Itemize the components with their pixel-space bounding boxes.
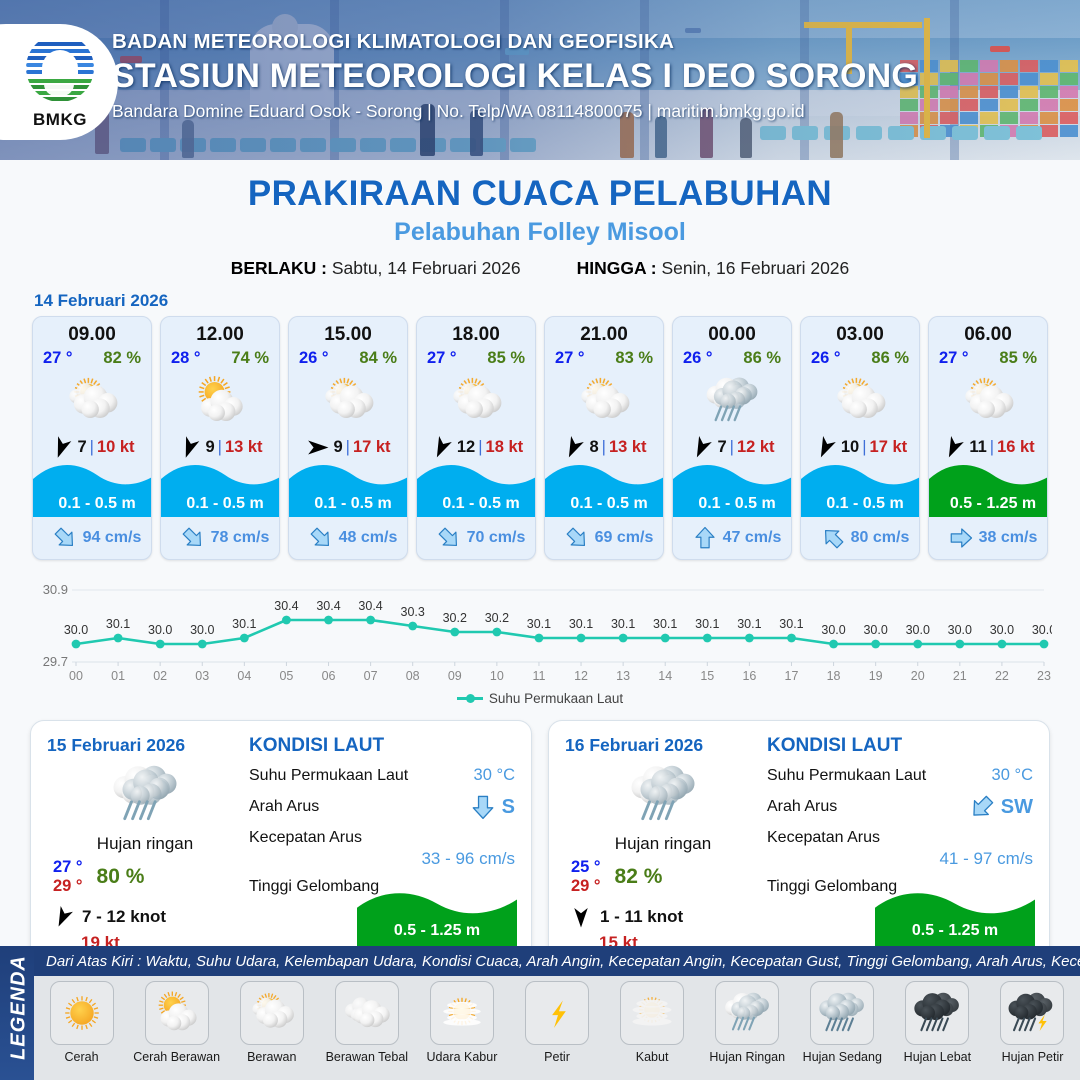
legend-item: Udara Kabur (414, 976, 509, 1080)
card-current-speed: 48 cm/s (339, 529, 398, 547)
chart-point (492, 628, 501, 637)
card-current-speed: 69 cm/s (595, 529, 654, 547)
chart-point (198, 640, 207, 649)
weather-icon-berawan (447, 372, 505, 430)
day-wind-row: 1 - 11 knot (565, 905, 761, 929)
daily-forecast-panel: 16 Februari 2026Hujan ringan25 °29 °82 %… (548, 720, 1050, 964)
legend-item: Petir (509, 976, 604, 1080)
legend-item-tile (145, 981, 209, 1045)
chart-xtick: 02 (153, 669, 167, 683)
current-direction-icon (181, 526, 205, 550)
forecast-card[interactable]: 00.0026 °86 %7|12 kt0.1 - 0.5 m47 cm/s (672, 316, 792, 560)
chart-xtick: 11 (532, 669, 545, 683)
forecast-card[interactable]: 15.0026 °84 %9|17 kt0.1 - 0.5 m48 cm/s (288, 316, 408, 560)
wave-height-value: 0.5 - 1.25 m (357, 922, 517, 940)
chart-xtick: 15 (700, 669, 714, 683)
weather-icon-kabut (627, 988, 677, 1038)
weather-icon-berawan (831, 372, 889, 430)
chart-xtick: 21 (953, 669, 967, 683)
day-humidity: 82 % (615, 865, 663, 889)
chart-point-label: 30.1 (611, 617, 635, 631)
chart-point (408, 622, 417, 631)
station-contact: Bandara Domine Eduard Osok - Sorong | No… (112, 101, 918, 122)
card-weather-icon (929, 370, 1047, 432)
day-temp-min: 27 ° (53, 858, 83, 877)
day-summary: 16 Februari 2026Hujan ringan25 °29 °82 %… (565, 735, 761, 949)
sst-value: 30 °C (474, 766, 515, 785)
bmkg-logo: BMKG (0, 24, 118, 140)
current-direction-icon (309, 526, 333, 550)
legend-item-label: Hujan Sedang (803, 1050, 882, 1064)
legend-item-tile (715, 981, 779, 1045)
card-current-row: 80 cm/s (801, 517, 920, 559)
legend-item-label: Petir (544, 1050, 570, 1064)
sst-label: Suhu Permukaan Laut (767, 767, 926, 785)
legend-item: Berawan Tebal (319, 976, 414, 1080)
wind-direction-icon (177, 435, 202, 460)
day-summary: 15 Februari 2026Hujan ringan27 °29 °80 %… (47, 735, 243, 949)
day-weather-icon (47, 758, 243, 832)
day-wind-row: 7 - 12 knot (47, 905, 243, 929)
header-text-block: BADAN METEOROLOGI KLIMATOLOGI DAN GEOFIS… (112, 30, 918, 122)
chart-point (366, 616, 375, 625)
card-wind-direction-value: 9 (333, 438, 342, 457)
card-time: 15.00 (289, 317, 407, 346)
chart-point (998, 640, 1007, 649)
card-humidity: 86 % (871, 349, 909, 368)
chart-point (871, 640, 880, 649)
card-current-speed: 80 cm/s (851, 529, 910, 547)
card-current-speed: 47 cm/s (723, 529, 782, 547)
card-temp-humidity-row: 28 °74 % (161, 346, 279, 368)
legend-item-label: Kabut (636, 1050, 669, 1064)
chart-point-label: 30.1 (695, 617, 719, 631)
wind-direction-icon (813, 435, 838, 460)
weather-icon-hujan-sedang (817, 988, 867, 1038)
legend-item-label: Hujan Lebat (904, 1050, 971, 1064)
card-temp-humidity-row: 26 °86 % (673, 346, 791, 368)
card-gust-speed: 16 kt (997, 438, 1035, 457)
legend-item: Hujan Sedang (795, 976, 890, 1080)
card-time: 18.00 (417, 317, 535, 346)
forecast-card[interactable]: 09.0027 °82 %7|10 kt0.1 - 0.5 m94 cm/s (32, 316, 152, 560)
weather-icon-berawan (63, 372, 121, 430)
day-temp-range: 27 °29 ° (53, 858, 83, 896)
card-wind-separator: | (218, 438, 222, 457)
agency-name: BADAN METEOROLOGI KLIMATOLOGI DAN GEOFIS… (112, 30, 918, 54)
card-temp-humidity-row: 27 °82 % (33, 346, 151, 368)
legend-item-tile (810, 981, 874, 1045)
day-condition: Hujan ringan (565, 834, 761, 854)
daily-forecast-panels: 15 Februari 2026Hujan ringan27 °29 °80 %… (0, 706, 1080, 964)
legend-item: Hujan Ringan (700, 976, 795, 1080)
weather-icon-hujan-ringan (109, 759, 181, 831)
validity-from: BERLAKU : Sabtu, 14 Februari 2026 (231, 258, 521, 279)
chart-xtick: 01 (111, 669, 125, 683)
legend-item-tile (905, 981, 969, 1045)
chart-point-label: 30.4 (274, 599, 298, 613)
chart-point (1040, 640, 1049, 649)
card-humidity: 85 % (999, 349, 1037, 368)
legend-item-tile (335, 981, 399, 1045)
card-time: 12.00 (161, 317, 279, 346)
chart-ytick-top: 30.9 (43, 582, 68, 597)
card-temperature: 27 ° (427, 349, 457, 368)
current-direction-value: SW (1001, 796, 1033, 819)
forecast-card-list: 09.0027 °82 %7|10 kt0.1 - 0.5 m94 cm/s12… (0, 316, 1080, 560)
current-speed-label: Kecepatan Arus (249, 829, 362, 847)
card-wave-zone: 0.1 - 0.5 m (545, 457, 664, 517)
card-wave-height: 0.1 - 0.5 m (289, 495, 408, 517)
card-wind-separator: | (346, 438, 350, 457)
sea-conditions-title: KONDISI LAUT (249, 735, 515, 757)
card-current-row: 78 cm/s (161, 517, 280, 559)
card-current-row: 69 cm/s (545, 517, 664, 559)
card-weather-icon (161, 370, 279, 432)
current-direction-icon (437, 526, 461, 550)
card-time: 09.00 (33, 317, 151, 346)
legend-item-tile (50, 981, 114, 1045)
day-temperature-block: 27 °29 °80 % (47, 858, 243, 896)
weather-icon-berawan (247, 988, 297, 1038)
card-gust-speed: 10 kt (97, 438, 135, 457)
current-direction-label: Arah Arus (767, 798, 837, 816)
wind-direction-icon (429, 435, 454, 460)
card-humidity: 83 % (615, 349, 653, 368)
wind-direction-icon (305, 435, 330, 460)
card-time: 06.00 (929, 317, 1047, 346)
day-humidity: 80 % (97, 865, 145, 889)
card-gust-speed: 12 kt (737, 438, 775, 457)
forecast-card[interactable]: 21.0027 °83 %8|13 kt0.1 - 0.5 m69 cm/s (544, 316, 664, 560)
chart-xtick: 09 (448, 669, 462, 683)
weather-icon-cerah (57, 988, 107, 1038)
current-direction-value-group: SW (969, 794, 1033, 820)
chart-point-label: 30.4 (358, 599, 382, 613)
legend-section: LEGENDA Dari Atas Kiri : Waktu, Suhu Uda… (0, 946, 1080, 1080)
card-wind-separator: | (90, 438, 94, 457)
card-temperature: 26 ° (299, 349, 329, 368)
card-wind-direction-value: 7 (717, 438, 726, 457)
chart-xtick: 07 (364, 669, 378, 683)
legend-item-label: Hujan Petir (1002, 1050, 1064, 1064)
chart-series-line (76, 620, 1044, 644)
validity-from-value: Sabtu, 14 Februari 2026 (332, 258, 521, 278)
chart-point-label: 30.0 (64, 623, 88, 637)
wind-direction-icon (49, 435, 74, 460)
card-current-row: 70 cm/s (417, 517, 536, 559)
card-wave-height: 0.1 - 0.5 m (673, 495, 792, 517)
card-temperature: 27 ° (43, 349, 73, 368)
card-wind-direction-value: 8 (589, 438, 598, 457)
chart-xtick: 20 (911, 669, 925, 683)
card-current-speed: 70 cm/s (467, 529, 526, 547)
card-wave-height: 0.1 - 0.5 m (161, 495, 280, 517)
chart-point-label: 30.0 (948, 623, 972, 637)
chart-xtick: 14 (658, 669, 672, 683)
card-current-row: 47 cm/s (673, 517, 792, 559)
current-speed-value: 41 - 97 cm/s (767, 849, 1033, 869)
card-temperature: 26 ° (683, 349, 713, 368)
current-direction-row: Arah ArusSW (767, 794, 1033, 820)
weather-icon-hujan-ringan (722, 988, 772, 1038)
chart-point (282, 616, 291, 625)
card-gust-speed: 13 kt (609, 438, 647, 457)
chart-point-label: 30.0 (821, 623, 845, 637)
card-wind-direction-value: 11 (969, 438, 986, 457)
forecast-card[interactable]: 03.0026 °86 %10|17 kt0.1 - 0.5 m80 cm/s (800, 316, 920, 560)
current-direction-value: S (502, 796, 515, 819)
wave-height-value: 0.5 - 1.25 m (875, 922, 1035, 940)
chart-point-label: 30.1 (779, 617, 803, 631)
card-temperature: 27 ° (939, 349, 969, 368)
legend-note: Dari Atas Kiri : Waktu, Suhu Udara, Kele… (34, 946, 1080, 976)
day-condition: Hujan ringan (47, 834, 243, 854)
forecast-card[interactable]: 06.0027 °85 %11|16 kt0.5 - 1.25 m38 cm/s (928, 316, 1048, 560)
legend-item-label: Berawan Tebal (326, 1050, 408, 1064)
chart-xtick: 13 (616, 669, 630, 683)
chart-point (324, 616, 333, 625)
chart-xtick: 10 (490, 669, 504, 683)
sst-row: Suhu Permukaan Laut30 °C (249, 766, 515, 785)
chart-point (577, 634, 586, 643)
day-date: 15 Februari 2026 (47, 735, 243, 756)
legend-item-tile (240, 981, 304, 1045)
card-temp-humidity-row: 26 °84 % (289, 346, 407, 368)
current-speed-label: Kecepatan Arus (767, 829, 880, 847)
chart-point (745, 634, 754, 643)
card-weather-icon (673, 370, 791, 432)
chart-point (72, 640, 81, 649)
bmkg-logo-mark: BMKG (18, 34, 102, 130)
current-direction-label: Arah Arus (249, 798, 319, 816)
chart-point (240, 634, 249, 643)
sst-row: Suhu Permukaan Laut30 °C (767, 766, 1033, 785)
day-temperature-block: 25 °29 °82 % (565, 858, 761, 896)
current-speed-row: Kecepatan Arus (249, 829, 515, 847)
sea-conditions: KONDISI LAUTSuhu Permukaan Laut30 °CArah… (243, 735, 515, 949)
card-wave-zone: 0.1 - 0.5 m (417, 457, 536, 517)
card-time: 00.00 (673, 317, 791, 346)
card-gust-speed: 17 kt (870, 438, 908, 457)
card-weather-icon (801, 370, 919, 432)
chart-legend: Suhu Permukaan Laut (0, 691, 1080, 706)
legend-icon-list: CerahCerah BerawanBerawanBerawan TebalUd… (34, 976, 1080, 1080)
wind-direction-icon (941, 435, 966, 460)
card-humidity: 86 % (743, 349, 781, 368)
current-speed-row: Kecepatan Arus (767, 829, 1033, 847)
card-time: 21.00 (545, 317, 663, 346)
wind-direction-icon (51, 905, 75, 929)
card-gust-speed: 18 kt (486, 438, 524, 457)
card-wind-separator: | (602, 438, 606, 457)
card-wave-zone: 0.5 - 1.25 m (929, 457, 1048, 517)
legend-item-tile (1000, 981, 1064, 1045)
card-wave-height: 0.5 - 1.25 m (929, 495, 1048, 517)
chart-point-label: 30.4 (316, 599, 340, 613)
validity-from-label: BERLAKU : (231, 258, 327, 278)
chart-xtick: 08 (406, 669, 420, 683)
card-current-row: 94 cm/s (33, 517, 152, 559)
day-wind-range: 1 - 11 knot (600, 907, 683, 927)
card-current-speed: 78 cm/s (211, 529, 270, 547)
chart-legend-label: Suhu Permukaan Laut (489, 691, 623, 706)
card-weather-icon (545, 370, 663, 432)
card-current-row: 48 cm/s (289, 517, 408, 559)
wave-height-badge: 0.5 - 1.25 m (357, 885, 517, 947)
chart-point-label: 30.0 (990, 623, 1014, 637)
card-temperature: 27 ° (555, 349, 585, 368)
chart-point-label: 30.0 (906, 623, 930, 637)
card-wind-direction-value: 10 (841, 438, 859, 457)
legend-item-tile (620, 981, 684, 1045)
chart-point (156, 640, 165, 649)
day-date: 16 Februari 2026 (565, 735, 761, 756)
legend-item-label: Hujan Ringan (709, 1050, 785, 1064)
current-direction-icon (470, 794, 496, 820)
validity-to-label: HINGGA : (577, 258, 657, 278)
chart-point-label: 30.1 (653, 617, 677, 631)
wave-height-badge: 0.5 - 1.25 m (875, 885, 1035, 947)
current-direction-icon (969, 794, 995, 820)
weather-icon-berawan (319, 372, 377, 430)
weather-icon-udara-kabur (437, 988, 487, 1038)
weather-icon-cerah-berawan (191, 372, 249, 430)
chart-point-label: 30.1 (569, 617, 593, 631)
chart-point-label: 30.2 (443, 611, 467, 625)
chart-point (913, 640, 922, 649)
card-weather-icon (33, 370, 151, 432)
card-time: 03.00 (801, 317, 919, 346)
legend-item: Hujan Petir (985, 976, 1080, 1080)
chart-point (661, 634, 670, 643)
day-weather-icon (565, 758, 761, 832)
chart-point (535, 634, 544, 643)
validity-to-value: Senin, 16 Februari 2026 (662, 258, 850, 278)
card-temperature: 26 ° (811, 349, 841, 368)
page-title: PRAKIRAAN CUACA PELABUHAN (0, 174, 1080, 214)
chart-point (114, 634, 123, 643)
chart-xtick: 17 (785, 669, 799, 683)
card-gust-speed: 13 kt (225, 438, 263, 457)
legend-item-label: Cerah (65, 1050, 99, 1064)
legend-side-tab: LEGENDA (0, 946, 34, 1080)
card-wave-zone: 0.1 - 0.5 m (33, 457, 152, 517)
current-speed-value: 33 - 96 cm/s (249, 849, 515, 869)
card-wave-height: 0.1 - 0.5 m (417, 495, 536, 517)
card-wave-zone: 0.1 - 0.5 m (289, 457, 408, 517)
legend-item: Cerah Berawan (129, 976, 224, 1080)
chart-xtick: 04 (237, 669, 251, 683)
forecast-date-label: 14 Februari 2026 (34, 291, 1080, 311)
card-wave-height: 0.1 - 0.5 m (545, 495, 664, 517)
weather-icon-cerah-berawan (152, 988, 202, 1038)
weather-icon-petir (532, 988, 582, 1038)
day-temp-max: 29 ° (53, 877, 83, 896)
day-temp-min: 25 ° (571, 858, 601, 877)
legend-item-tile (525, 981, 589, 1045)
chart-point-label: 30.2 (485, 611, 509, 625)
chart-ytick-bottom: 29.7 (43, 654, 68, 669)
validity-to: HINGGA : Senin, 16 Februari 2026 (577, 258, 850, 279)
card-wave-zone: 0.1 - 0.5 m (673, 457, 792, 517)
current-direction-icon (53, 526, 77, 550)
card-wave-height: 0.1 - 0.5 m (33, 495, 152, 517)
legend-item: Cerah (34, 976, 129, 1080)
chart-point (787, 634, 796, 643)
card-humidity: 74 % (231, 349, 269, 368)
chart-xtick: 03 (195, 669, 209, 683)
weather-icon-berawan (575, 372, 633, 430)
chart-point-label: 30.0 (190, 623, 214, 637)
card-temperature: 28 ° (171, 349, 201, 368)
sea-conditions-title: KONDISI LAUT (767, 735, 1033, 757)
legend-item-label: Cerah Berawan (133, 1050, 220, 1064)
legend-item-label: Udara Kabur (426, 1050, 497, 1064)
current-direction-icon (821, 526, 845, 550)
chart-xtick: 19 (869, 669, 883, 683)
card-temp-humidity-row: 27 °85 % (417, 346, 535, 368)
card-wind-direction-value: 12 (457, 438, 475, 457)
page-subtitle: Pelabuhan Folley Misool (0, 218, 1080, 247)
chart-xtick: 16 (742, 669, 756, 683)
card-temp-humidity-row: 27 °83 % (545, 346, 663, 368)
chart-point-label: 30.1 (232, 617, 256, 631)
current-direction-icon (949, 526, 973, 550)
card-temp-humidity-row: 27 °85 % (929, 346, 1047, 368)
sst-chart-svg: 30.929.700010203040506070809101112131415… (28, 576, 1052, 688)
card-wave-zone: 0.1 - 0.5 m (161, 457, 280, 517)
legend-item-tile (430, 981, 494, 1045)
chart-point (955, 640, 964, 649)
sea-conditions: KONDISI LAUTSuhu Permukaan Laut30 °CArah… (761, 735, 1033, 949)
weather-icon-hujan-ringan (627, 759, 699, 831)
card-wind-direction-value: 7 (77, 438, 86, 457)
wind-direction-icon (561, 435, 586, 460)
legend-item-label: Berawan (247, 1050, 296, 1064)
chart-legend-marker (457, 697, 483, 700)
station-name: STASIUN METEOROLOGI KELAS I DEO SORONG (112, 57, 918, 96)
sst-chart: 30.929.700010203040506070809101112131415… (28, 576, 1052, 688)
page-header: BMKG BADAN METEOROLOGI KLIMATOLOGI DAN G… (0, 0, 1080, 160)
card-humidity: 85 % (487, 349, 525, 368)
chart-point-label: 30.1 (737, 617, 761, 631)
wind-direction-icon (689, 435, 714, 460)
chart-xtick: 18 (827, 669, 841, 683)
card-wind-separator: | (730, 438, 734, 457)
card-wind-direction-value: 9 (205, 438, 214, 457)
chart-xtick: 23 (1037, 669, 1051, 683)
daily-forecast-panel: 15 Februari 2026Hujan ringan27 °29 °80 %… (30, 720, 532, 964)
card-wind-separator: | (990, 438, 994, 457)
chart-point-label: 30.0 (863, 623, 887, 637)
card-wind-separator: | (478, 438, 482, 457)
card-temp-humidity-row: 26 °86 % (801, 346, 919, 368)
forecast-card[interactable]: 12.0028 °74 %9|13 kt0.1 - 0.5 m78 cm/s (160, 316, 280, 560)
chart-point-label: 30.3 (401, 605, 425, 619)
sst-value: 30 °C (992, 766, 1033, 785)
current-direction-row: Arah ArusS (249, 794, 515, 820)
card-wave-height: 0.1 - 0.5 m (801, 495, 920, 517)
weather-icon-hujan-lebat (912, 988, 962, 1038)
title-block: PRAKIRAAN CUACA PELABUHAN Pelabuhan Foll… (0, 174, 1080, 279)
bmkg-logo-circle-icon (26, 34, 94, 102)
forecast-card[interactable]: 18.0027 °85 %12|18 kt0.1 - 0.5 m70 cm/s (416, 316, 536, 560)
card-humidity: 84 % (359, 349, 397, 368)
chart-point-label: 30.0 (1032, 623, 1052, 637)
card-wave-zone: 0.1 - 0.5 m (801, 457, 920, 517)
current-direction-icon (693, 526, 717, 550)
